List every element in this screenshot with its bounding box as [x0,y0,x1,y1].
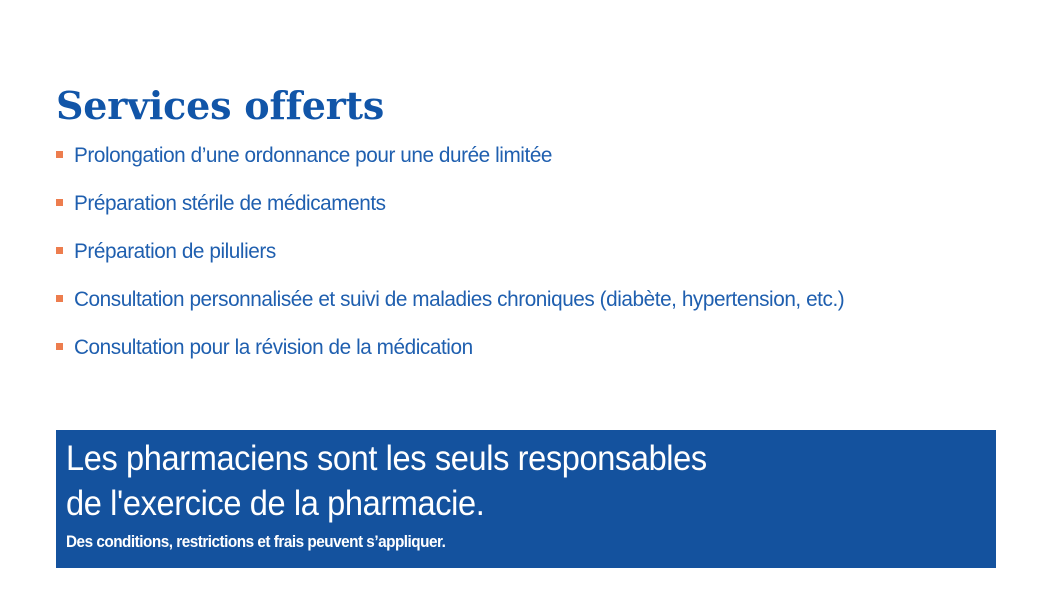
square-bullet-icon [56,343,63,350]
callout-heading-line-2: de l'exercice de la pharmacie. [66,481,931,526]
services-bullet-list: Prolongation d’une ordonnance pour une d… [56,140,1031,380]
callout-heading: Les pharmaciens sont les seuls responsab… [66,436,931,526]
list-item: Préparation de piluliers [56,236,1031,284]
page-title: Services offerts [56,87,384,125]
list-item-label: Consultation personnalisée et suivi de m… [74,284,844,314]
square-bullet-icon [56,247,63,254]
square-bullet-icon [56,199,63,206]
callout-box: Les pharmaciens sont les seuls responsab… [56,430,996,568]
list-item: Consultation pour la révision de la médi… [56,332,1031,380]
list-item-label: Prolongation d’une ordonnance pour une d… [74,140,552,170]
list-item-label: Préparation stérile de médicaments [74,188,386,218]
list-item: Consultation personnalisée et suivi de m… [56,284,1031,332]
square-bullet-icon [56,151,63,158]
slide-canvas: Services offerts Prolongation d’une ordo… [0,0,1050,600]
callout-subtitle: Des conditions, restrictions et frais pe… [66,530,903,554]
square-bullet-icon [56,295,63,302]
list-item: Prolongation d’une ordonnance pour une d… [56,140,1031,188]
list-item: Préparation stérile de médicaments [56,188,1031,236]
list-item-label: Consultation pour la révision de la médi… [74,332,473,362]
list-item-label: Préparation de piluliers [74,236,276,266]
callout-heading-line-1: Les pharmaciens sont les seuls responsab… [66,436,931,481]
